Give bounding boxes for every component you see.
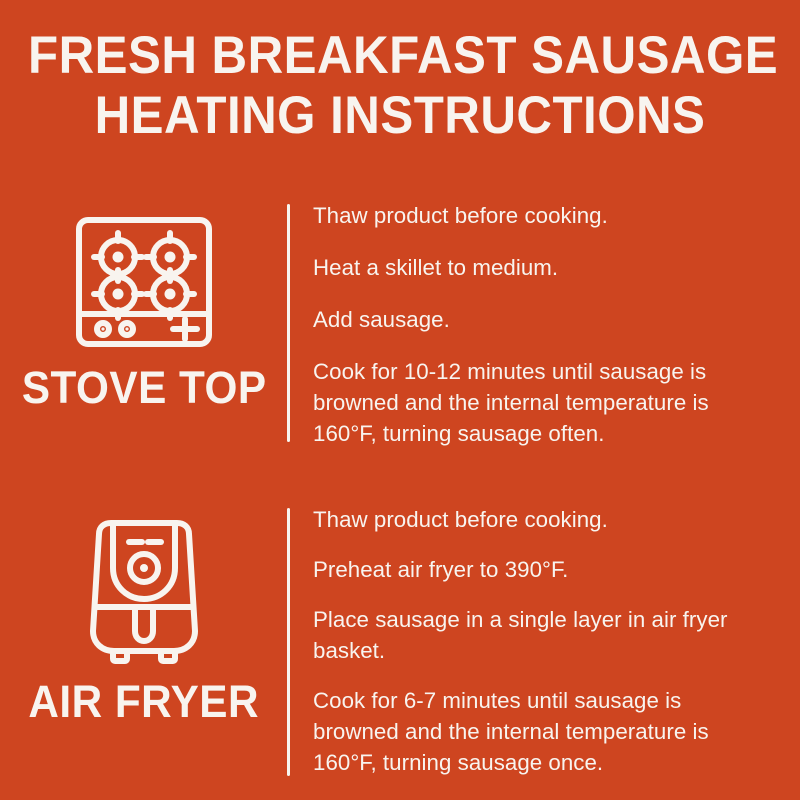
air-fryer-step-3: Place sausage in a single layer in air f… [313,604,759,666]
air-fryer-step-2: Preheat air fryer to 390°F. [313,554,759,585]
stove-top-icon [69,212,219,352]
air-fryer-icon [69,516,219,666]
title-line-1: FRESH BREAKFAST SAUSAGE [28,26,772,86]
title-line-2: HEATING INSTRUCTIONS [28,86,772,146]
stove-top-step-3: Add sausage. [313,304,759,335]
section-air-fryer: AIR FRYER Thaw product before cooking. P… [0,500,800,797]
air-fryer-step-4: Cook for 6-7 minutes until sausage is br… [313,685,759,778]
stove-top-label: STOVE TOP [22,364,267,412]
air-fryer-icon-column: AIR FRYER [0,500,288,726]
stove-top-step-4: Cook for 10-12 minutes until sausage is … [313,356,759,449]
stove-top-steps: Thaw product before cooking. Heat a skil… [288,196,800,449]
air-fryer-label: AIR FRYER [29,678,260,726]
stove-top-icon-column: STOVE TOP [0,196,288,412]
stove-top-step-1: Thaw product before cooking. [313,200,759,231]
stove-top-step-2: Heat a skillet to medium. [313,252,759,283]
page-title: FRESH BREAKFAST SAUSAGE HEATING INSTRUCT… [0,26,800,146]
section-stove-top: STOVE TOP Thaw product before cooking. H… [0,196,800,449]
air-fryer-steps: Thaw product before cooking. Preheat air… [288,500,800,797]
air-fryer-step-1: Thaw product before cooking. [313,504,759,535]
instruction-poster: FRESH BREAKFAST SAUSAGE HEATING INSTRUCT… [0,0,800,800]
